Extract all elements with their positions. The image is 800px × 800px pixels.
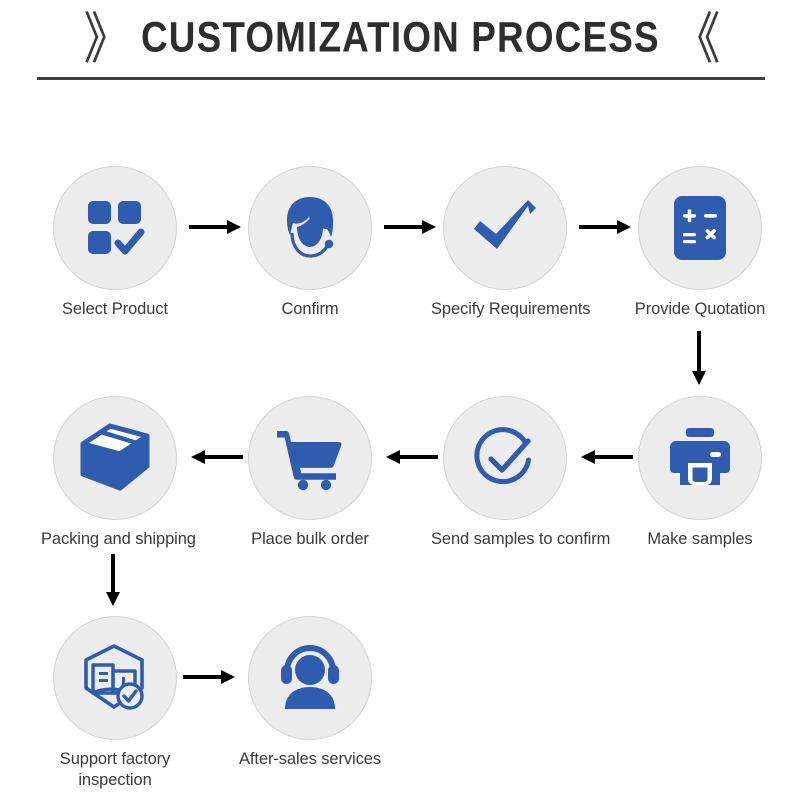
- step-node-specify-requirements[interactable]: Specify Requirements: [431, 166, 579, 320]
- step-icon-circle: [53, 396, 177, 520]
- step-icon-circle: [443, 166, 567, 290]
- step-label: Select Product: [41, 299, 189, 320]
- step-icon-circle: [53, 616, 177, 740]
- step-icon-circle: [638, 396, 762, 520]
- arrow-select-to-confirm: [189, 217, 243, 237]
- step-icon-circle: [638, 166, 762, 290]
- arrow-make-samples-to-send-samples: [579, 447, 633, 467]
- title-row: 》 CUSTOMIZATION PROCESS 《: [0, 6, 800, 70]
- calculator-icon: [667, 192, 733, 264]
- step-label: Make samples: [626, 529, 774, 550]
- chevron-right-decoration: 《: [673, 10, 716, 65]
- header-divider: [37, 77, 765, 80]
- step-label: Support factory inspection: [41, 749, 189, 790]
- arrow-confirm-to-specify: [384, 217, 438, 237]
- step-node-place-bulk-order[interactable]: Place bulk order: [236, 396, 384, 550]
- step-icon-circle: [53, 166, 177, 290]
- grid-check-icon: [81, 194, 149, 262]
- step-node-confirm[interactable]: Confirm: [236, 166, 384, 320]
- arrow-inspection-to-after-sales: [183, 667, 237, 687]
- step-label: Provide Quotation: [626, 299, 774, 320]
- arrow-bulk-order-to-packing: [189, 447, 243, 467]
- step-icon-circle: [443, 396, 567, 520]
- step-label: Place bulk order: [236, 529, 384, 550]
- step-label: Specify Requirements: [431, 299, 579, 320]
- step-node-support-factory-inspection[interactable]: Support factory inspection: [41, 616, 189, 790]
- page-title: CUSTOMIZATION PROCESS: [141, 14, 660, 62]
- printer-icon: [664, 425, 736, 491]
- step-icon-circle: [248, 166, 372, 290]
- checkmark-icon: [468, 191, 542, 265]
- arrow-send-samples-to-bulk-order: [384, 447, 438, 467]
- circle-check-icon: [469, 422, 541, 494]
- step-label: Packing and shipping: [41, 529, 189, 550]
- header: 》 CUSTOMIZATION PROCESS 《: [0, 0, 800, 95]
- factory-inspection-shield-icon: [78, 643, 152, 713]
- step-label: Confirm: [236, 299, 384, 320]
- step-icon-circle: [248, 616, 372, 740]
- arrow-packing-to-inspection: [103, 554, 123, 608]
- arrow-specify-to-quotation: [579, 217, 633, 237]
- step-node-provide-quotation[interactable]: Provide Quotation: [626, 166, 774, 320]
- headset-agent-icon: [275, 193, 345, 263]
- step-node-packing-and-shipping[interactable]: Packing and shipping: [41, 396, 189, 550]
- shopping-cart-icon: [274, 425, 346, 491]
- step-node-send-samples-to-confirm[interactable]: Send samples to confirm: [431, 396, 579, 550]
- arrow-quotation-to-make-samples: [689, 331, 709, 387]
- step-icon-circle: [248, 396, 372, 520]
- step-label: After-sales services: [236, 749, 384, 770]
- step-node-make-samples[interactable]: Make samples: [626, 396, 774, 550]
- chevron-left-decoration: 》: [84, 10, 127, 65]
- step-node-after-sales-services[interactable]: After-sales services: [236, 616, 384, 770]
- package-box-icon: [79, 422, 151, 494]
- headset-person-icon: [274, 645, 346, 711]
- step-node-select-product[interactable]: Select Product: [41, 166, 189, 320]
- step-label: Send samples to confirm: [431, 529, 579, 550]
